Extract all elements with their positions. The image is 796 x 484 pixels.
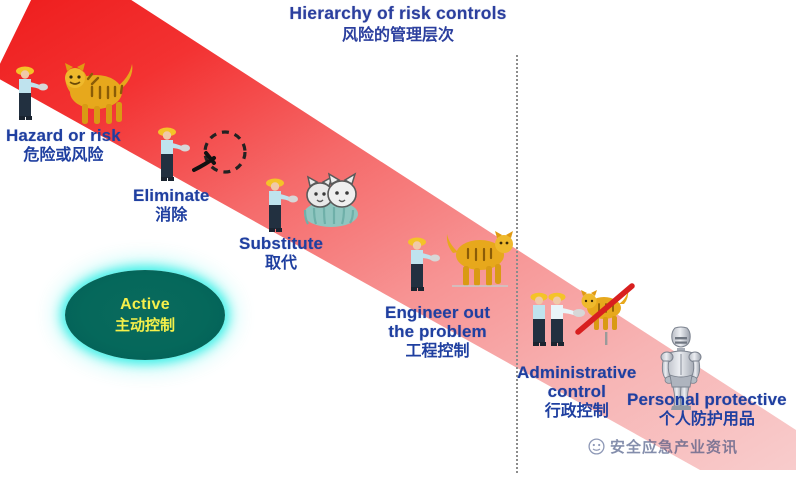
tiger-icon bbox=[52, 52, 138, 130]
active-badge-en: Active bbox=[120, 295, 170, 315]
stage-label-admin-en-line1: Administrative bbox=[517, 363, 637, 382]
stage-label-hazard: Hazard or risk 危险或风险 bbox=[6, 126, 121, 164]
stage-label-substitute-cn: 取代 bbox=[239, 253, 323, 272]
stage-label-engineer-en-line1: Engineer out bbox=[385, 303, 490, 322]
stage-label-administrative: Administrative control 行政控制 bbox=[517, 363, 637, 420]
stage-label-eliminate-en: Eliminate bbox=[133, 186, 209, 205]
stage-label-hazard-cn: 危险或风险 bbox=[6, 145, 121, 164]
stage-label-admin-en-line2: control bbox=[517, 382, 637, 401]
worker-figure-substitute bbox=[258, 174, 298, 236]
watermark-text: 安全应急产业资讯 bbox=[610, 436, 738, 457]
worker-figure-eliminate bbox=[150, 123, 190, 185]
stage-label-engineer-en-line2: the problem bbox=[385, 322, 490, 341]
watermark: 安全应急产业资讯 bbox=[588, 436, 738, 457]
stage-label-ppe-cn: 个人防护用品 bbox=[627, 409, 787, 428]
stage-label-substitute: Substitute 取代 bbox=[239, 234, 323, 272]
title-english: Hierarchy of risk controls bbox=[0, 2, 796, 24]
prohibition-sign-icon bbox=[574, 282, 644, 348]
stage-label-eliminate: Eliminate 消除 bbox=[133, 186, 209, 224]
stage-label-ppe: Personal protective 个人防护用品 bbox=[627, 390, 787, 428]
active-badge-cn: 主动控制 bbox=[115, 315, 175, 335]
worker-figure-engineer bbox=[400, 233, 440, 295]
stage-label-substitute-en: Substitute bbox=[239, 234, 323, 253]
worker-figure-hazard bbox=[8, 62, 48, 124]
caged-tiger-icon bbox=[444, 222, 516, 292]
stage-label-eliminate-cn: 消除 bbox=[133, 205, 209, 224]
stage-label-engineer: Engineer out the problem 工程控制 bbox=[385, 303, 490, 360]
stage-label-ppe-en: Personal protective bbox=[627, 390, 787, 409]
diagram-title: Hierarchy of risk controls 风险的管理层次 bbox=[0, 2, 796, 45]
dashed-circle-icon bbox=[192, 126, 254, 186]
title-chinese: 风险的管理层次 bbox=[0, 24, 796, 45]
kittens-icon bbox=[296, 162, 366, 228]
stage-label-engineer-cn: 工程控制 bbox=[385, 341, 490, 360]
stage-label-admin-cn: 行政控制 bbox=[517, 401, 637, 420]
circle-logo-icon bbox=[588, 438, 605, 455]
diagram-canvas: Hierarchy of risk controls 风险的管理层次 bbox=[0, 0, 796, 484]
active-control-badge: Active 主动控制 bbox=[65, 270, 225, 360]
stage-label-hazard-en: Hazard or risk bbox=[6, 126, 121, 145]
